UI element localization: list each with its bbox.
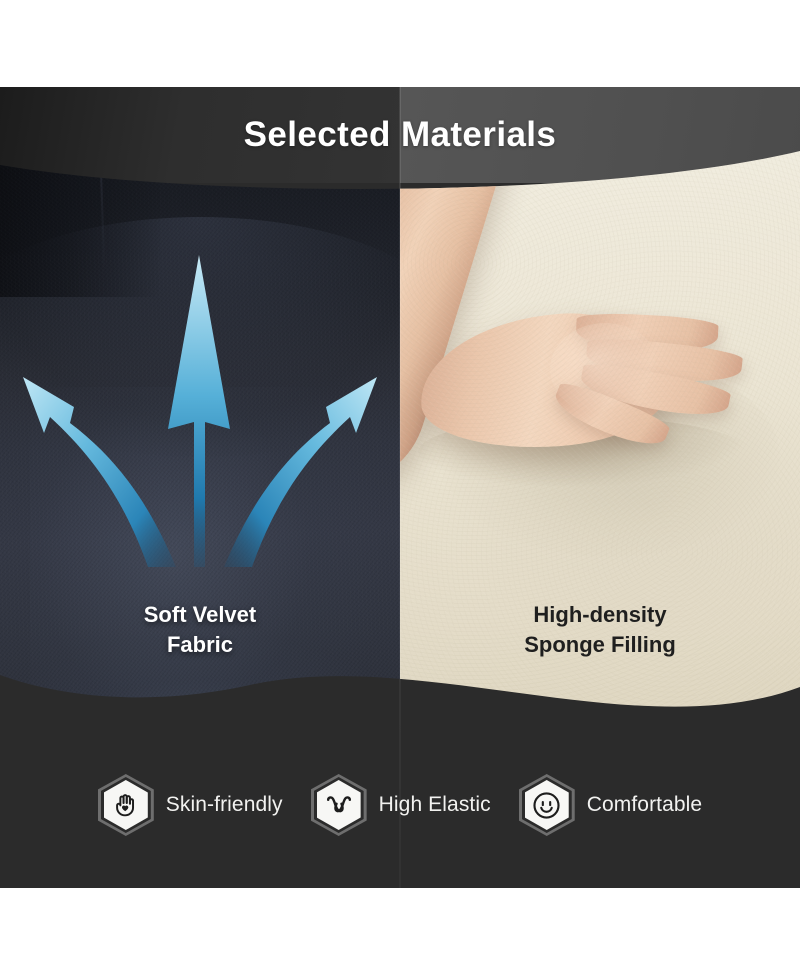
sponge-foam-photo	[400, 87, 800, 888]
arrow-up-left	[23, 377, 176, 567]
page-title: Selected Materials	[0, 87, 800, 183]
velvet-caption: Soft Velvet Fabric	[0, 600, 400, 659]
foam-caption-line2: Sponge Filling	[400, 630, 800, 660]
smiley-face-icon	[519, 774, 575, 836]
foam-caption-line1: High-density	[400, 600, 800, 630]
velvet-caption-line2: Fabric	[0, 630, 400, 660]
feature-skin-friendly[interactable]: Skin-friendly	[98, 774, 283, 836]
velvet-caption-line1: Soft Velvet	[0, 600, 400, 630]
feature-label: Skin-friendly	[166, 793, 283, 817]
arrow-up-center	[168, 255, 230, 567]
arrow-up-right	[224, 377, 377, 567]
spring-coil-icon	[311, 774, 367, 836]
foam-caption: High-density Sponge Filling	[400, 600, 800, 659]
hand-heart-icon	[98, 774, 154, 836]
feature-comfortable[interactable]: Comfortable	[519, 774, 702, 836]
feature-high-elastic[interactable]: High Elastic	[311, 774, 491, 836]
feature-label: High Elastic	[379, 793, 491, 817]
foam-texture-grain	[400, 87, 800, 888]
breathability-arrows-icon	[0, 237, 400, 567]
feature-label: Comfortable	[587, 793, 702, 817]
product-infographic: Soft Velvet Fabric High-density Sponge F…	[0, 0, 800, 977]
materials-card: Soft Velvet Fabric High-density Sponge F…	[0, 87, 800, 888]
